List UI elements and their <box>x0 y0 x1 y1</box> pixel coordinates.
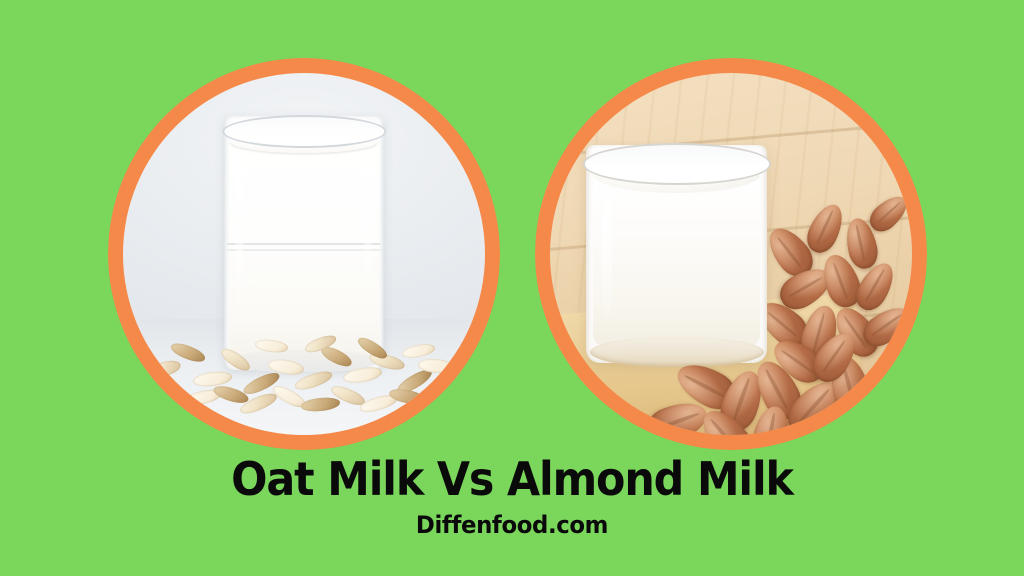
almond-milk-photo <box>550 73 912 435</box>
glass-facet-line <box>228 249 381 251</box>
poster-canvas: Oat Milk Vs Almond Milk Diffenfood.com <box>0 0 1024 576</box>
glass-highlight-left <box>602 193 611 319</box>
glass-rim <box>583 143 771 184</box>
glass-facet-line <box>228 243 381 245</box>
oat-milk-scene <box>123 73 485 435</box>
glass-highlight-right <box>365 157 371 296</box>
almond-milk-liquid <box>593 180 760 345</box>
almond-milk-glass <box>586 145 767 362</box>
caption-block: Oat Milk Vs Almond Milk Diffenfood.com <box>0 455 1024 539</box>
oat-milk-photo <box>123 73 485 435</box>
site-attribution: Diffenfood.com <box>26 511 999 539</box>
oat-milk-image-badge <box>108 58 500 450</box>
almond-milk-image-badge <box>535 58 927 450</box>
page-title: Oat Milk Vs Almond Milk <box>36 455 988 503</box>
glass-base <box>590 337 764 367</box>
oat-flakes-pile <box>141 312 467 421</box>
glass-highlight-left <box>236 152 244 309</box>
almond-milk-scene <box>550 73 912 435</box>
glass-rim <box>222 115 386 148</box>
